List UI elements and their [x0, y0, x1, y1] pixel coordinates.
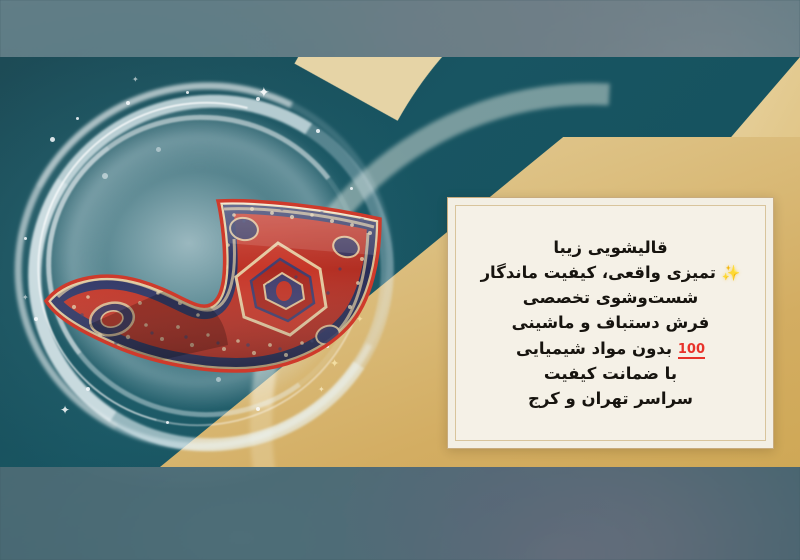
- water-droplet: [316, 129, 320, 133]
- sparkle-star-icon: ✦: [60, 403, 70, 417]
- card-line-service1: شست‌وشوی تخصصی: [523, 285, 698, 310]
- card-line-tagline: ✨ تمیزی واقعی، کیفیت ماندگار: [481, 260, 741, 285]
- card-line-guarantee: با ضمانت کیفیت: [544, 361, 677, 386]
- card-line-coverage: سراسر تهران و کرج: [528, 386, 693, 411]
- banner-image: ✦ ✦ ✦ ✦ ✦ ✦ ✦ قالیشویی زیبا ✨ تمیزی واقع…: [0, 0, 800, 560]
- card-line-title: قالیشویی زیبا: [553, 235, 667, 260]
- water-droplet: [126, 101, 130, 105]
- card-line-service3-text: بدون مواد شیمیایی: [516, 339, 672, 358]
- advertisement-text-card: قالیشویی زیبا ✨ تمیزی واقعی، کیفیت ماندگ…: [447, 197, 774, 449]
- sparkles-emoji: ✨: [722, 264, 741, 282]
- sparkle-star-icon: ✦: [132, 75, 139, 84]
- card-inner-border: قالیشویی زیبا ✨ تمیزی واقعی، کیفیت ماندگ…: [455, 205, 766, 441]
- water-droplet: [256, 407, 260, 411]
- card-line-service3: 100 بدون مواد شیمیایی: [516, 336, 705, 361]
- card-line-service2: فرش دستباف و ماشینی: [512, 310, 710, 335]
- card-text-block: قالیشویی زیبا ✨ تمیزی واقعی، کیفیت ماندگ…: [456, 206, 765, 440]
- water-droplet: [156, 147, 161, 152]
- sparkle-star-icon: ✦: [356, 315, 364, 325]
- hundred-points-emoji: 100: [678, 343, 705, 359]
- water-droplet: [50, 137, 55, 142]
- water-droplet: [102, 173, 108, 179]
- banner-panel: ✦ ✦ ✦ ✦ ✦ ✦ ✦ قالیشویی زیبا ✨ تمیزی واقع…: [0, 57, 800, 467]
- water-droplet: [186, 91, 189, 94]
- flying-carpet-photo: [28, 185, 398, 395]
- sparkle-star-icon: ✦: [22, 293, 29, 302]
- card-line-tagline-text: تمیزی واقعی، کیفیت ماندگار: [481, 263, 716, 282]
- sparkle-star-icon: ✦: [258, 85, 270, 101]
- sparkle-star-icon: ✦: [318, 385, 325, 394]
- water-droplet: [76, 117, 79, 120]
- water-droplet: [24, 237, 27, 240]
- water-droplet: [166, 421, 169, 424]
- sparkle-star-icon: ✦: [330, 357, 339, 370]
